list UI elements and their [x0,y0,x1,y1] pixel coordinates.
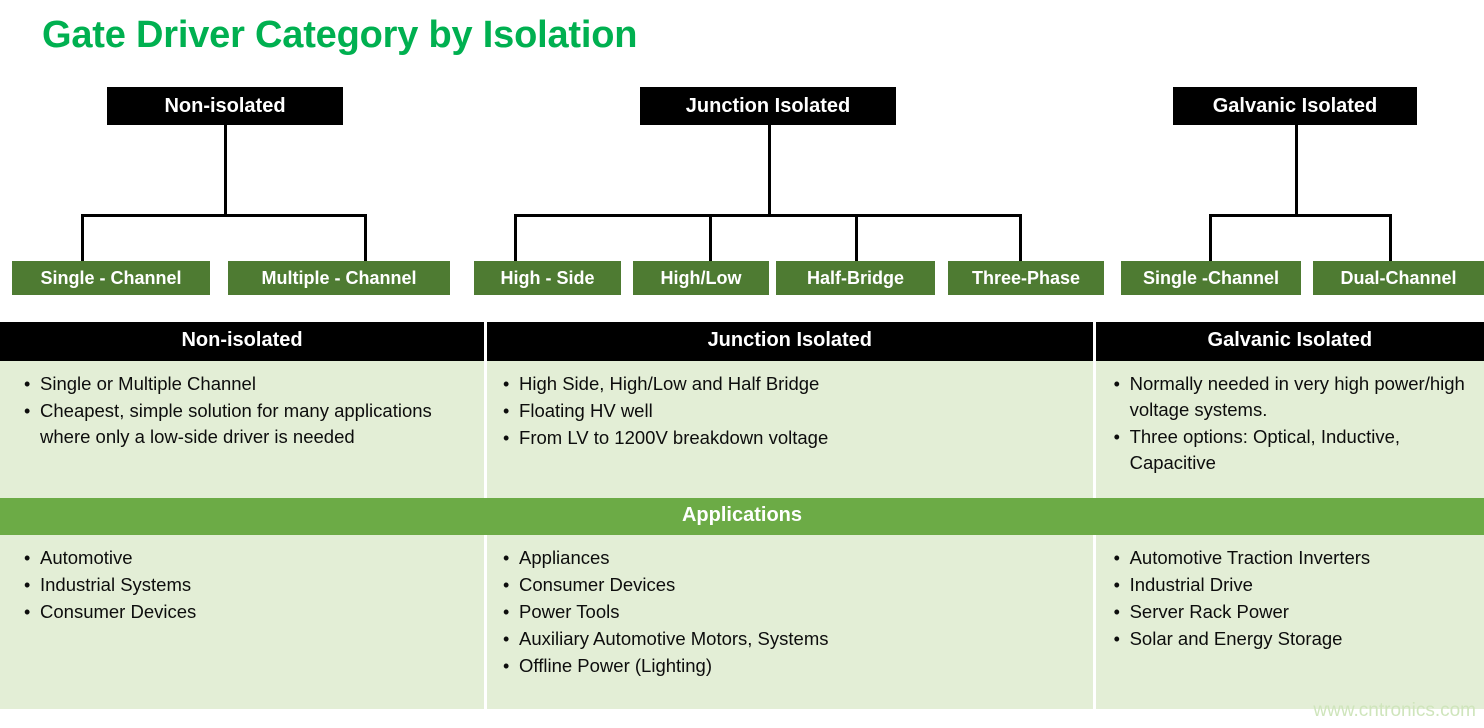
list-item: High Side, High/Low and Half Bridge [503,371,1079,397]
list-item: Industrial Systems [24,572,470,598]
table-header-non-isolated: Non-isolated [0,322,484,361]
connector-vertical-galvanic-isolated [1295,124,1298,214]
tree-node-dual-channel[interactable]: Dual-Channel [1313,261,1484,295]
table-cell-applications-junction-isolated: Appliances Consumer Devices Power Tools … [484,535,1093,709]
list-item: Consumer Devices [24,599,470,625]
tree-node-three-phase[interactable]: Three-Phase [948,261,1104,295]
table-header-galvanic-isolated: Galvanic Isolated [1093,322,1484,361]
connector-drop-high-low [709,214,712,261]
bullet-list-applications-galvanic-isolated: Automotive Traction Inverters Industrial… [1096,545,1484,652]
tree-node-galvanic-isolated[interactable]: Galvanic Isolated [1173,87,1417,125]
bullet-list-applications-non-isolated: Automotive Industrial Systems Consumer D… [0,545,484,625]
connector-horizontal-galvanic-isolated [1209,214,1392,217]
watermark-url: www.cntronics.com [1313,700,1476,722]
list-item: Normally needed in very high power/high … [1114,371,1470,423]
connector-vertical-non-isolated [224,124,227,214]
tree-node-high-side[interactable]: High - Side [474,261,621,295]
connector-drop-dual-channel [1389,214,1392,261]
list-item: Appliances [503,545,1079,571]
list-item: Solar and Energy Storage [1114,626,1470,652]
table-cell-description-non-isolated: Single or Multiple Channel Cheapest, sim… [0,361,484,498]
list-item: Automotive [24,545,470,571]
list-item: From LV to 1200V breakdown voltage [503,425,1079,451]
connector-drop-multiple-channel [364,214,367,261]
tree-node-single-channel-galvanic[interactable]: Single -Channel [1121,261,1301,295]
table-header-junction-isolated: Junction Isolated [484,322,1093,361]
connector-vertical-junction-isolated [768,124,771,214]
bullet-list-description-non-isolated: Single or Multiple Channel Cheapest, sim… [0,371,484,450]
infographic-page: Gate Driver Category by Isolation Non-is… [0,0,1484,728]
list-item: Automotive Traction Inverters [1114,545,1470,571]
list-item: Three options: Optical, Inductive, Capac… [1114,424,1470,476]
list-item: Server Rack Power [1114,599,1470,625]
tree-node-single-channel[interactable]: Single - Channel [12,261,210,295]
list-item: Floating HV well [503,398,1079,424]
table-header-row: Non-isolated Junction Isolated Galvanic … [0,322,1484,361]
tree-node-non-isolated[interactable]: Non-isolated [107,87,343,125]
comparison-table: Non-isolated Junction Isolated Galvanic … [0,322,1484,709]
list-item: Industrial Drive [1114,572,1470,598]
bullet-list-applications-junction-isolated: Appliances Consumer Devices Power Tools … [487,545,1093,679]
hierarchy-diagram: Non-isolated Single - Channel Multiple -… [0,0,1484,310]
bullet-list-description-galvanic-isolated: Normally needed in very high power/high … [1096,371,1484,476]
connector-drop-three-phase [1019,214,1022,261]
list-item: Single or Multiple Channel [24,371,470,397]
connector-drop-single-channel [81,214,84,261]
table-cell-description-galvanic-isolated: Normally needed in very high power/high … [1093,361,1484,498]
table-cell-applications-non-isolated: Automotive Industrial Systems Consumer D… [0,535,484,709]
list-item: Cheapest, simple solution for many appli… [24,398,470,450]
connector-drop-high-side [514,214,517,261]
connector-drop-single-channel-galvanic [1209,214,1212,261]
list-item: Auxiliary Automotive Motors, Systems [503,626,1079,652]
tree-node-high-low[interactable]: High/Low [633,261,769,295]
connector-horizontal-non-isolated [81,214,367,217]
tree-node-multiple-channel[interactable]: Multiple - Channel [228,261,450,295]
table-cell-description-junction-isolated: High Side, High/Low and Half Bridge Floa… [484,361,1093,498]
list-item: Consumer Devices [503,572,1079,598]
connector-horizontal-junction-isolated [514,214,1022,217]
bullet-list-description-junction-isolated: High Side, High/Low and Half Bridge Floa… [487,371,1093,451]
tree-node-junction-isolated[interactable]: Junction Isolated [640,87,896,125]
tree-node-half-bridge[interactable]: Half-Bridge [776,261,935,295]
applications-banner: Applications [0,498,1484,535]
table-applications-row: Automotive Industrial Systems Consumer D… [0,535,1484,709]
table-description-row: Single or Multiple Channel Cheapest, sim… [0,361,1484,498]
table-cell-applications-galvanic-isolated: Automotive Traction Inverters Industrial… [1093,535,1484,709]
connector-drop-half-bridge [855,214,858,261]
list-item: Offline Power (Lighting) [503,653,1079,679]
list-item: Power Tools [503,599,1079,625]
